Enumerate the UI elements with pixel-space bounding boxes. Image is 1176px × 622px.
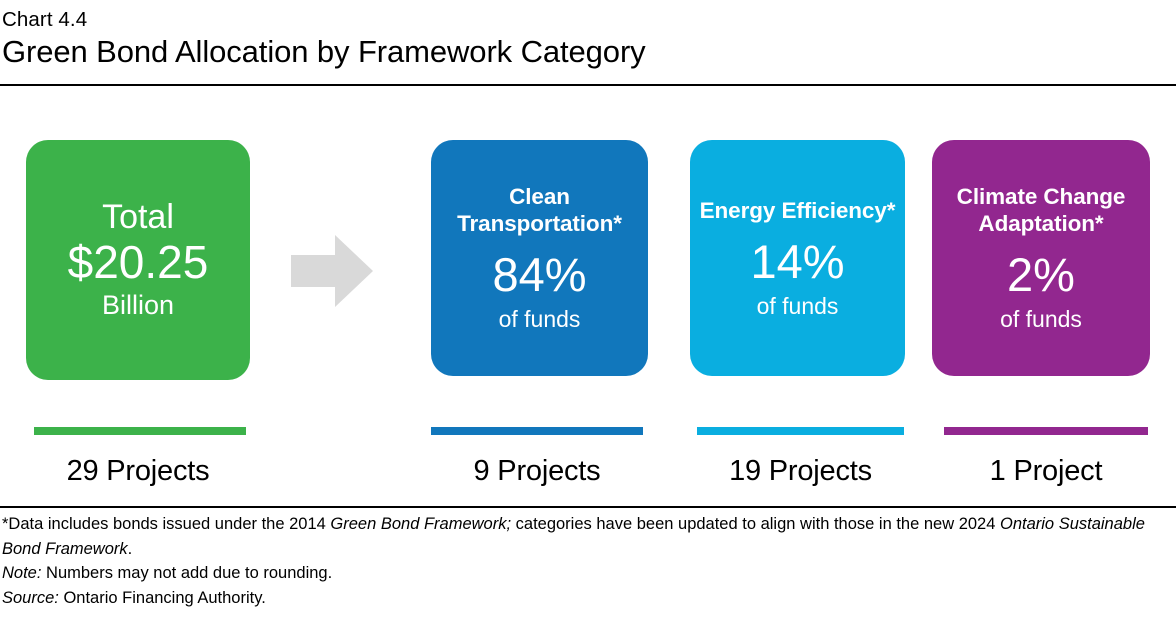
footnote-source: Source: Ontario Financing Authority. bbox=[2, 586, 1172, 611]
category-card-climate-change-adaptation: Climate Change Adaptation* 2% of funds bbox=[932, 140, 1150, 376]
source-label: Source: bbox=[2, 589, 59, 607]
category-card-energy-efficiency: Energy Efficiency* 14% of funds bbox=[690, 140, 905, 376]
project-count-clean-transportation: 9 Projects bbox=[431, 453, 643, 489]
note-text: Numbers may not add due to rounding. bbox=[41, 564, 332, 582]
footnote-marker: * bbox=[613, 211, 622, 236]
note-label: Note: bbox=[2, 564, 41, 582]
underline-bar-energy-efficiency bbox=[697, 427, 904, 435]
footnotes: *Data includes bonds issued under the 20… bbox=[2, 512, 1172, 610]
total-card-label: Total bbox=[102, 198, 174, 236]
category-percent-value: 14% bbox=[750, 234, 844, 290]
category-funds-label: of funds bbox=[1000, 305, 1082, 333]
category-card-title: Clean Transportation* bbox=[439, 183, 640, 237]
footnote-text-1: *Data includes bonds issued under the 20… bbox=[2, 515, 330, 533]
category-name-text: Clean Transportation bbox=[457, 184, 613, 236]
right-arrow-icon bbox=[291, 235, 373, 307]
footnote-text-2: categories have been updated to align wi… bbox=[511, 515, 1000, 533]
underline-bar-climate-change-adaptation bbox=[944, 427, 1148, 435]
category-percent-value: 84% bbox=[492, 247, 586, 303]
cards-band: Total $20.25 Billion Clean Transportatio… bbox=[0, 140, 1176, 390]
category-percent-value: 2% bbox=[1007, 247, 1075, 303]
footnote-italic-1: Green Bond Framework; bbox=[330, 515, 511, 533]
footnote-marker: * bbox=[887, 198, 896, 223]
header-divider bbox=[0, 84, 1176, 86]
total-card-amount: $20.25 bbox=[68, 236, 209, 288]
project-count-energy-efficiency: 19 Projects bbox=[697, 453, 904, 489]
project-counts-band: 29 Projects 9 Projects 19 Projects 1 Pro… bbox=[0, 420, 1176, 492]
underline-bar-total bbox=[34, 427, 246, 435]
footnote-marker: * bbox=[1095, 211, 1104, 236]
category-name-text: Energy Efficiency bbox=[700, 198, 887, 223]
category-card-title: Energy Efficiency* bbox=[700, 197, 896, 224]
total-allocation-card: Total $20.25 Billion bbox=[26, 140, 250, 380]
footnote-data-note: *Data includes bonds issued under the 20… bbox=[2, 512, 1172, 561]
page-title: Green Bond Allocation by Framework Categ… bbox=[2, 32, 1176, 72]
footer-divider bbox=[0, 506, 1176, 508]
chart-header: Chart 4.4 Green Bond Allocation by Frame… bbox=[0, 0, 1176, 72]
category-card-title: Climate Change Adaptation* bbox=[938, 183, 1144, 237]
category-funds-label: of funds bbox=[499, 305, 581, 333]
project-count-total: 29 Projects bbox=[26, 453, 250, 489]
source-text: Ontario Financing Authority. bbox=[59, 589, 266, 607]
category-card-clean-transportation: Clean Transportation* 84% of funds bbox=[431, 140, 648, 376]
footnote-note: Note: Numbers may not add due to roundin… bbox=[2, 561, 1172, 586]
footnote-text-3: . bbox=[128, 540, 133, 558]
total-card-unit: Billion bbox=[102, 288, 174, 322]
category-funds-label: of funds bbox=[757, 292, 839, 320]
underline-bar-clean-transportation bbox=[431, 427, 643, 435]
chart-number: Chart 4.4 bbox=[2, 7, 1176, 32]
chart-container: Chart 4.4 Green Bond Allocation by Frame… bbox=[0, 0, 1176, 622]
project-count-climate-change-adaptation: 1 Project bbox=[944, 453, 1148, 489]
